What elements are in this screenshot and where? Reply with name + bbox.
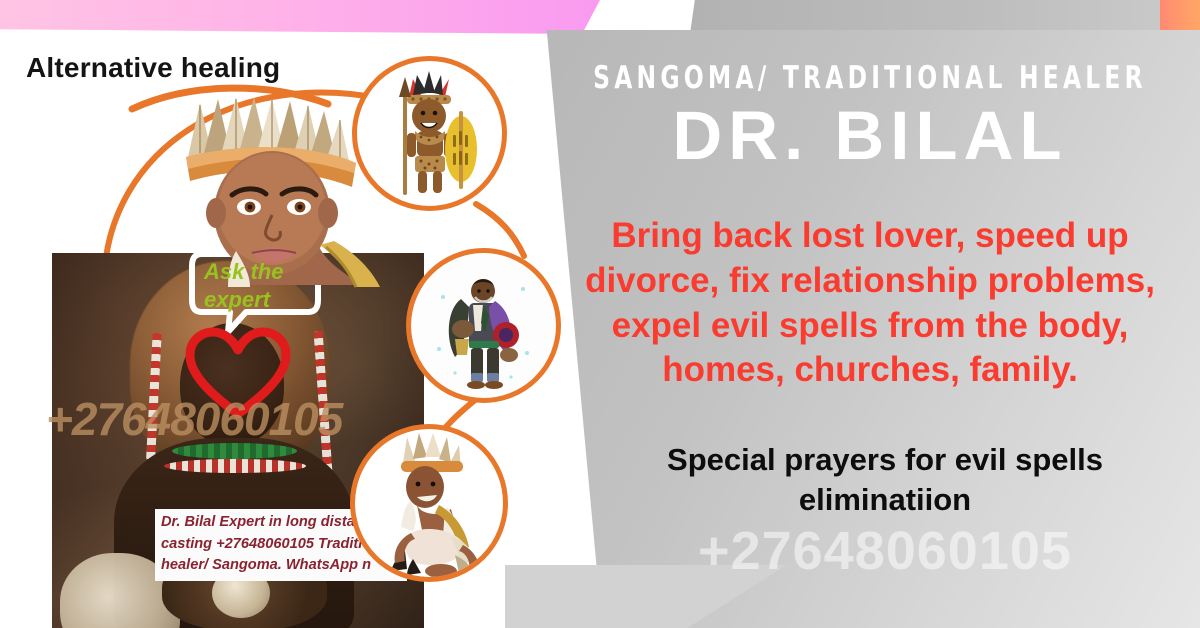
- caption-line-3: healer/ Sangoma. WhatsApp n: [161, 555, 402, 577]
- right-text-column: SANGOMA/ TRADITIONAL HEALER DR. BILAL Br…: [540, 0, 1200, 628]
- bubble-traditional-man: [406, 248, 561, 403]
- healer-name: DR. BILAL: [540, 100, 1200, 172]
- services-text: Bring back lost lover, speed up divorce,…: [550, 214, 1190, 393]
- bubble-zulu-warrior: [352, 56, 507, 211]
- speech-bubble-label: Ask the expert: [204, 258, 314, 313]
- page-title: Alternative healing: [26, 52, 280, 84]
- watermark-phone-number: +27648060105: [570, 520, 1200, 582]
- topbar-pink-accent: [0, 0, 600, 34]
- bubble-sangoma-dancer: [350, 424, 508, 582]
- bubble-ring: [350, 424, 508, 582]
- bubble-ring: [352, 56, 507, 211]
- kicker-text: SANGOMA/ TRADITIONAL HEALER: [593, 60, 1147, 96]
- poster-canvas: Alternative healing: [0, 0, 1200, 628]
- photo-red-necklace: [164, 459, 306, 473]
- bubble-ring: [406, 248, 561, 403]
- special-offer-text: Special prayers for evil spells eliminat…: [580, 440, 1190, 521]
